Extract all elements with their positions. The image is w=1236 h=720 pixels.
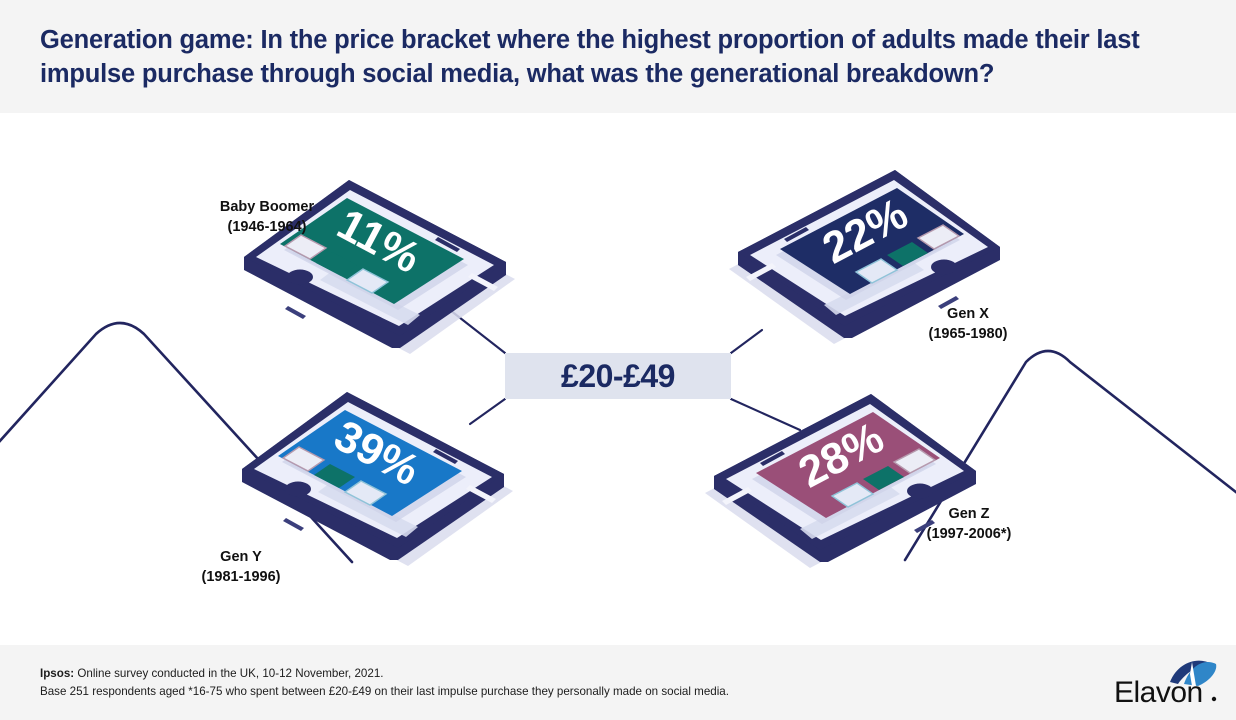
gen-name: Gen X [908, 305, 1028, 325]
caption-gen-x: Gen X (1965-1980) [908, 305, 1028, 344]
gen-name: Gen Z [904, 505, 1034, 525]
gen-years: (1981-1996) [186, 568, 296, 588]
elavon-dot-icon [1212, 697, 1216, 701]
infographic-canvas: 11% Baby Boomer (1946-1964) [0, 0, 1236, 720]
phone-gen-z: 28% [688, 392, 988, 582]
footer-source-note: Ipsos: Online survey conducted in the UK… [40, 665, 940, 700]
base-line: Base 251 respondents aged *16-75 who spe… [40, 683, 940, 701]
home-button [287, 270, 313, 285]
home-button [907, 484, 933, 499]
caption-gen-z: Gen Z (1997-2006*) [904, 505, 1034, 544]
page-title: Generation game: In the price bracket wh… [40, 24, 1200, 91]
gen-years: (1946-1964) [212, 218, 322, 238]
home-button [285, 482, 311, 497]
elavon-logo: Elavon [1112, 652, 1224, 710]
elavon-wordmark: Elavon [1114, 676, 1203, 709]
caption-baby-boomer: Baby Boomer (1946-1964) [212, 198, 322, 237]
gen-years: (1997-2006*) [904, 525, 1034, 545]
gen-name: Baby Boomer [212, 198, 322, 218]
price-bracket-label: £20-£49 [561, 360, 675, 392]
caption-gen-y: Gen Y (1981-1996) [186, 548, 296, 587]
gen-name: Gen Y [186, 548, 296, 568]
gen-years: (1965-1980) [908, 325, 1028, 345]
home-button [931, 260, 957, 275]
source-line: Ipsos: Online survey conducted in the UK… [40, 665, 940, 683]
source-label: Ipsos: [40, 667, 74, 680]
bottom-speaker [283, 518, 304, 531]
bottom-speaker [285, 306, 306, 319]
source-detail: Online survey conducted in the UK, 10-12… [74, 667, 383, 680]
price-bracket-chip: £20-£49 [505, 353, 731, 399]
